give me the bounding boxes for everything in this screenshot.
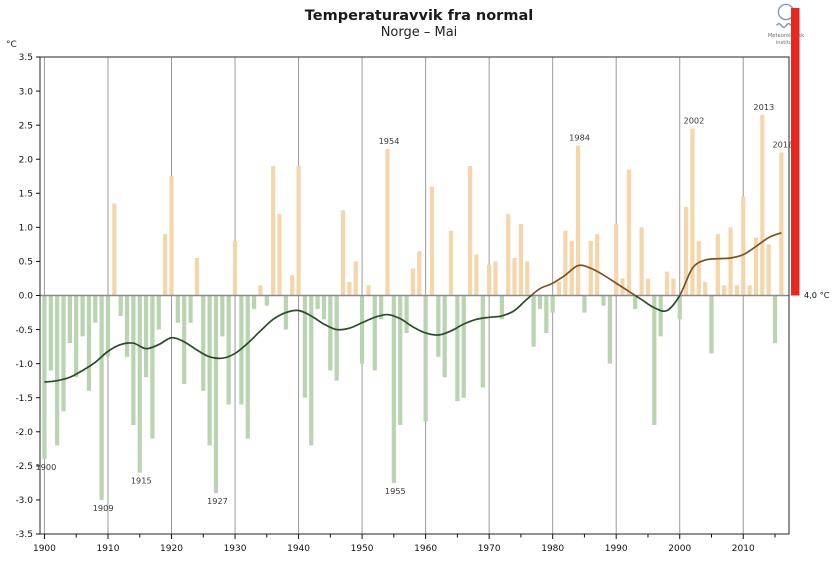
bar-1996: [652, 296, 656, 425]
bar-1995: [646, 278, 650, 295]
bar-2009: [735, 285, 739, 295]
x-tick-label-7: 1970: [478, 544, 501, 554]
y-tick-label-9: -1.0: [15, 360, 33, 370]
bar-1962: [436, 296, 440, 357]
bar-1997: [659, 296, 663, 337]
bar-1952: [373, 296, 377, 371]
bar-1982: [563, 231, 567, 296]
bar-1985: [582, 296, 586, 313]
bar-1976: [525, 261, 529, 295]
bar-1963: [443, 296, 447, 378]
bar-1948: [347, 282, 351, 296]
bar-1921: [176, 296, 180, 323]
bar-1947: [341, 210, 345, 295]
bar-1922: [182, 296, 186, 385]
smoothed-line: [44, 233, 781, 382]
bar-1989: [608, 296, 612, 364]
y-tick-label-5: 1.0: [19, 224, 34, 234]
bar-1910: [106, 296, 110, 357]
x-tick-label-6: 1960: [414, 544, 437, 554]
bar-2011: [748, 285, 752, 295]
annotation-1984: 1984: [569, 133, 590, 143]
bar-1957: [404, 296, 408, 333]
x-tick-label-3: 1930: [224, 544, 247, 554]
chart-plot-area: 3.53.02.52.01.51.00.50.0-0.5-1.0-1.5-2.0…: [0, 0, 838, 586]
bar-1960: [424, 296, 428, 422]
x-tick-label-1: 1910: [97, 544, 120, 554]
y-tick-label-4: 1.5: [19, 189, 33, 199]
x-tick-label-2: 1920: [160, 544, 183, 554]
bar-1978: [538, 296, 542, 310]
bar-1993: [633, 296, 637, 310]
bar-1974: [512, 258, 516, 295]
y-tick-label-10: -1.5: [15, 394, 33, 404]
x-axis-ticks: 1900191019201930194019501960197019801990…: [33, 534, 775, 554]
x-tick-label-10: 2000: [668, 544, 691, 554]
bar-1965: [455, 296, 459, 402]
bar-1964: [449, 231, 453, 296]
annotation-2002: 2002: [684, 116, 705, 126]
bar-1908: [93, 296, 97, 323]
bar-1902: [55, 296, 59, 446]
annotation-2013: 2013: [753, 102, 774, 112]
annotation-1954: 1954: [379, 136, 400, 146]
bar-1927: [214, 296, 218, 494]
bar-1941: [303, 296, 307, 398]
y-tick-label-12: -2.5: [15, 462, 33, 472]
chart-svg: 3.53.02.52.01.51.00.50.0-0.5-1.0-1.5-2.0…: [0, 0, 838, 586]
bar-1917: [150, 296, 154, 439]
y-tick-label-13: -3.0: [15, 496, 33, 506]
red-bar: [791, 8, 800, 296]
y-tick-label-14: -3.5: [15, 530, 33, 540]
y-tick-label-2: 2.5: [19, 121, 33, 131]
bar-1900: [42, 296, 46, 460]
bar-1998: [665, 272, 669, 296]
bar-1939: [290, 275, 294, 295]
bar-1924: [195, 258, 199, 295]
bar-1936: [271, 166, 275, 295]
bar-1933: [252, 296, 256, 310]
red-bar-label: 4,0 °C: [804, 290, 830, 300]
bar-1970: [487, 265, 491, 296]
bar-1999: [671, 278, 675, 295]
bar-2013: [760, 115, 764, 296]
bar-1969: [481, 296, 485, 388]
bar-1920: [169, 176, 173, 295]
bar-1958: [411, 268, 415, 295]
y-tick-label-0: 3.5: [19, 53, 33, 63]
bar-2015: [773, 296, 777, 344]
bar-2003: [697, 241, 701, 296]
bar-1966: [462, 296, 466, 398]
bar-1980: [551, 296, 555, 313]
bar-1943: [316, 296, 320, 310]
bar-1923: [188, 296, 192, 323]
bar-1911: [112, 204, 116, 296]
y-tick-label-3: 2.0: [19, 155, 34, 165]
annotation-1955: 1955: [385, 486, 406, 496]
annotation-1900: 1900: [36, 462, 57, 472]
bar-1945: [328, 296, 332, 371]
bar-1992: [627, 169, 631, 295]
bar-2014: [767, 244, 771, 295]
bar-2006: [716, 234, 720, 295]
x-tick-label-8: 1980: [541, 544, 564, 554]
bar-1984: [576, 146, 580, 296]
bar-1916: [144, 296, 148, 378]
bar-2010: [741, 197, 745, 296]
y-tick-label-11: -2.0: [15, 428, 33, 438]
y-tick-label-8: -0.5: [15, 326, 33, 336]
bar-1929: [227, 296, 231, 405]
y-tick-label-1: 3.0: [19, 87, 34, 97]
annotation-1915: 1915: [131, 476, 152, 486]
bar-1951: [366, 285, 370, 295]
bar-2005: [709, 296, 713, 354]
bar-1928: [220, 296, 224, 337]
y-tick-label-7: 0.0: [19, 292, 34, 302]
bar-1918: [157, 296, 161, 330]
bar-1973: [506, 214, 510, 296]
bar-1903: [61, 296, 65, 412]
bar-1979: [544, 296, 548, 333]
annotation-1927: 1927: [207, 496, 228, 506]
bar-1930: [233, 241, 237, 296]
bar-2008: [728, 227, 732, 295]
bar-1937: [277, 214, 281, 296]
bar-1961: [430, 186, 434, 295]
bar-1909: [100, 296, 104, 500]
bar-1949: [354, 261, 358, 295]
bar-2004: [703, 282, 707, 296]
bar-1935: [265, 296, 269, 306]
bar-1987: [595, 234, 599, 295]
bar-1934: [258, 285, 262, 295]
bar-2016: [779, 152, 783, 295]
bar-1946: [335, 296, 339, 381]
bar-1942: [309, 296, 313, 446]
red-scale-marker: 4,0 °C: [791, 8, 830, 300]
x-tick-label-4: 1940: [287, 544, 310, 554]
bar-1906: [80, 296, 84, 337]
bar-1977: [532, 296, 536, 347]
bar-1915: [138, 296, 142, 473]
x-tick-label-0: 1900: [33, 544, 56, 554]
bar-1950: [360, 296, 364, 364]
x-tick-label-5: 1950: [351, 544, 374, 554]
bar-series: [42, 115, 783, 500]
bar-1913: [125, 296, 129, 357]
y-tick-label-6: 0.5: [19, 258, 33, 268]
bar-1971: [493, 261, 497, 295]
bar-1944: [322, 296, 326, 320]
chart-page: Temperaturavvik fra normal Norge – Mai M…: [0, 0, 838, 586]
bar-1994: [640, 227, 644, 295]
x-tick-label-11: 2010: [732, 544, 755, 554]
bar-1954: [385, 149, 389, 296]
bar-1940: [296, 166, 300, 295]
bar-1914: [131, 296, 135, 425]
bar-2007: [722, 285, 726, 295]
smoothed-line-cold: [44, 233, 781, 382]
bar-1932: [246, 296, 250, 439]
bar-1919: [163, 234, 167, 295]
bar-1981: [557, 282, 561, 296]
bar-1912: [119, 296, 123, 316]
bar-1967: [468, 166, 472, 295]
bar-1925: [201, 296, 205, 391]
bar-1975: [519, 224, 523, 296]
bar-1901: [49, 296, 53, 371]
x-tick-label-9: 1990: [605, 544, 628, 554]
bar-1956: [398, 296, 402, 425]
annotation-2016: 2016: [772, 139, 793, 149]
bar-1907: [87, 296, 91, 391]
bar-1959: [417, 251, 421, 295]
bar-1988: [601, 296, 605, 306]
annotation-1909: 1909: [93, 503, 114, 513]
bar-1905: [74, 296, 78, 378]
bar-1968: [474, 255, 478, 296]
bar-1955: [392, 296, 396, 483]
bar-1904: [68, 296, 72, 344]
bar-1926: [208, 296, 212, 446]
